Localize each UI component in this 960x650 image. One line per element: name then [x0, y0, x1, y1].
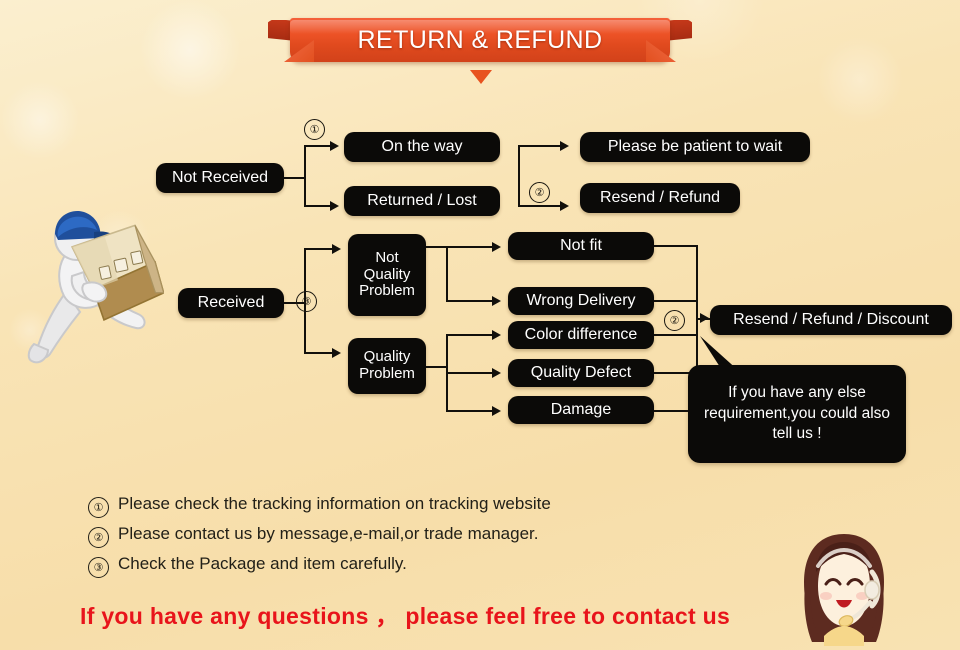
connector-collect-color-difference [654, 334, 698, 336]
connector-collect-not-fit [654, 245, 698, 247]
connector-to-on-the-way [304, 145, 332, 147]
flow-node-returned-lost[interactable]: Returned / Lost [344, 186, 500, 216]
note-number-icon: ② [88, 527, 109, 548]
connector-to-not-fit [446, 246, 494, 248]
arrow-to-color-difference [492, 330, 501, 340]
contact-tagline: If you have any questions ， please feel … [80, 597, 730, 631]
flow-node-not-fit[interactable]: Not fit [508, 232, 654, 260]
note-text: Please contact us by message,e-mail,or t… [118, 524, 539, 544]
arrow-to-on-the-way [330, 141, 339, 151]
connector-nq-vertical [446, 246, 448, 302]
connector-collect-wrong-delivery [654, 300, 698, 302]
arrow-to-quality-defect [492, 368, 501, 378]
list-item: ① Please check the tracking information … [88, 494, 728, 518]
note-number-icon: ③ [88, 557, 109, 578]
arrow-to-wrong-delivery [492, 296, 501, 306]
list-item: ③ Check the Package and item carefully. [88, 554, 728, 578]
connector-to-quality-defect [446, 372, 494, 374]
flow-node-resend-refund-discount[interactable]: Resend / Refund / Discount [710, 305, 952, 335]
connector-not-received-stem [284, 177, 306, 179]
marker-2-top: ② [529, 182, 550, 203]
notes-list: ① Please check the tracking information … [88, 494, 728, 584]
flow-node-quality-problem[interactable]: Quality Problem [348, 338, 426, 394]
connector-not-received-split [304, 145, 306, 207]
page-title: RETURN & REFUND [290, 18, 670, 62]
note-text: Check the Package and item carefully. [118, 554, 407, 574]
connector-top-stage2-vertical [518, 145, 520, 207]
connector-to-returned-lost [304, 205, 332, 207]
promo-banner-page: RETURN & REFUND [0, 0, 960, 650]
arrow-to-please-wait [560, 141, 569, 151]
connector-nq-in [426, 246, 448, 248]
courier-carrying-box-icon [14, 188, 164, 368]
customer-service-agent-icon [788, 528, 900, 646]
flow-node-color-difference[interactable]: Color difference [508, 321, 654, 349]
arrow-to-final [700, 313, 709, 323]
flow-node-resend-refund[interactable]: Resend / Refund [580, 183, 740, 213]
arrow-to-not-quality [332, 244, 341, 254]
arrow-to-quality [332, 348, 341, 358]
speech-bubble: If you have any else requirement,you cou… [688, 365, 906, 463]
note-number-icon: ① [88, 497, 109, 518]
ribbon-banner: RETURN & REFUND [268, 18, 692, 64]
connector-to-resend-refund [518, 205, 562, 207]
flow-node-not-received[interactable]: Not Received [156, 163, 284, 193]
arrow-to-returned-lost [330, 201, 339, 211]
list-item: ② Please contact us by message,e-mail,or… [88, 524, 728, 548]
note-text: Please check the tracking information on… [118, 494, 551, 514]
arrow-to-resend-refund [560, 201, 569, 211]
flow-node-on-the-way[interactable]: On the way [344, 132, 500, 162]
arrow-to-damage [492, 406, 501, 416]
connector-to-color-difference [446, 334, 494, 336]
connector-q-in [426, 366, 448, 368]
flow-node-not-quality-problem[interactable]: Not Quality Problem [348, 234, 426, 316]
connector-to-damage [446, 410, 494, 412]
marker-2-right: ② [664, 310, 685, 331]
arrow-to-not-fit [492, 242, 501, 252]
flow-node-damage[interactable]: Damage [508, 396, 654, 424]
flow-node-received[interactable]: Received [178, 288, 284, 318]
marker-3: ③ [296, 291, 317, 312]
flow-node-quality-defect[interactable]: Quality Defect [508, 359, 654, 387]
marker-1: ① [304, 119, 325, 140]
down-triangle-icon [470, 70, 492, 84]
connector-to-please-wait [518, 145, 562, 147]
connector-to-quality [304, 352, 334, 354]
connector-to-not-quality [304, 248, 334, 250]
flow-node-please-be-patient[interactable]: Please be patient to wait [580, 132, 810, 162]
connector-to-wrong-delivery [446, 300, 494, 302]
flow-node-wrong-delivery[interactable]: Wrong Delivery [508, 287, 654, 315]
